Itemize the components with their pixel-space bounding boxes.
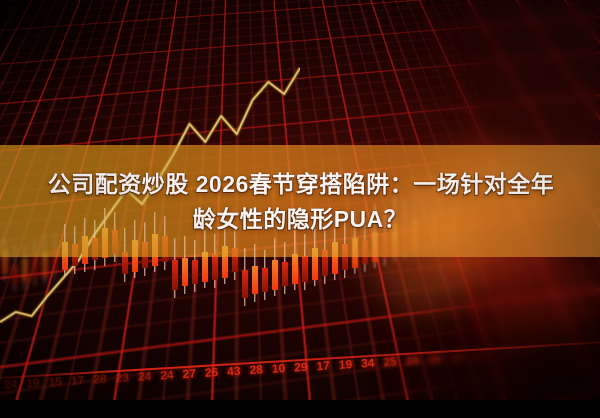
vignette-top-left — [0, 0, 260, 150]
headline-line-1: 公司配资炒股 2026春节穿搭陷阱：一场针对全年 — [46, 168, 555, 201]
x-axis-tick: 26 — [204, 365, 218, 380]
candle-body — [32, 256, 38, 278]
x-axis-tick: 29 — [294, 360, 308, 375]
x-axis-tick: 34 — [361, 356, 375, 371]
x-axis-tick: 28 — [249, 362, 263, 377]
x-axis-tick: 19 — [26, 376, 40, 391]
x-axis-tick: 23 — [115, 370, 129, 385]
x-axis-tick: 25 — [383, 354, 397, 369]
candle-body — [172, 260, 178, 290]
vignette-bottom-right — [300, 260, 600, 400]
stock-chart-banner: 1619222526283031392742 24191517282324242… — [0, 0, 600, 400]
candle-body — [22, 258, 28, 282]
candle-body — [212, 254, 218, 280]
x-axis-tick: 17 — [71, 373, 85, 388]
x-axis-tick: 24 — [137, 369, 151, 384]
candle-body — [242, 270, 248, 298]
x-axis-tick: 17 — [316, 358, 330, 373]
x-axis-tick: 28 — [93, 372, 107, 387]
x-axis-tick: 34 — [405, 353, 419, 368]
candle-body — [252, 266, 258, 294]
x-axis-tick: 15 — [48, 374, 62, 389]
x-axis-tick: 24 — [160, 368, 174, 383]
x-axis-tick: 18 — [495, 348, 509, 363]
headline-line-2: 龄女性的隐形PUA？ — [193, 203, 408, 236]
candle-body — [262, 268, 268, 292]
candle-body — [192, 260, 198, 284]
x-axis-tick: 22 — [472, 349, 486, 364]
x-axis-tick: 27 — [182, 366, 196, 381]
x-axis-tick: 19 — [338, 357, 352, 372]
x-axis-tick: 26 — [517, 346, 531, 361]
x-axis-tick: 37 — [450, 350, 464, 365]
x-axis-tick: 24 — [4, 377, 18, 392]
candle-body — [182, 258, 188, 286]
headline: 公司配资炒股 2026春节穿搭陷阱：一场针对全年 龄女性的隐形PUA？ — [0, 152, 600, 252]
x-axis-tick: 43 — [227, 364, 241, 379]
x-axis-tick: 35 — [428, 352, 442, 367]
x-axis-tick: 10 — [271, 361, 285, 376]
candle-body — [12, 266, 18, 284]
